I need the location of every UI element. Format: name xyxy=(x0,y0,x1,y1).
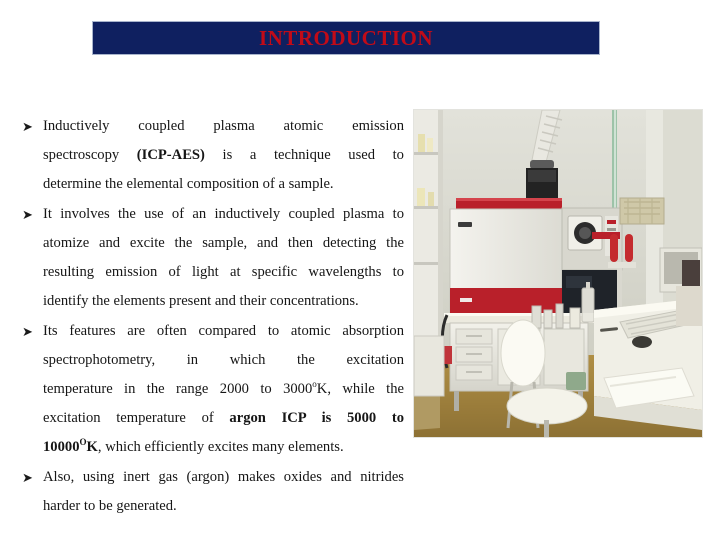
text-line: temperature in the range 2000 to 3000oK,… xyxy=(43,375,404,404)
list-item-text: Inductively coupled plasma atomic emissi… xyxy=(43,112,404,199)
icp-aes-instrument-photo xyxy=(414,110,702,437)
text-line: spectroscopy (ICP-AES) is a technique us… xyxy=(43,141,404,170)
text-line: atomize and excite the sample, and then … xyxy=(43,229,404,258)
page-title: INTRODUCTION xyxy=(259,28,433,49)
bullet-arrow-icon: ➤ xyxy=(22,112,40,141)
list-item-text: It involves the use of an inductively co… xyxy=(43,200,404,316)
text-line: 10000OK, which efficiently excites many … xyxy=(43,433,404,462)
text-line: determine the elemental composition of a… xyxy=(43,170,404,199)
text-line: Its features are often compared to atomi… xyxy=(43,317,404,346)
bullet-arrow-icon: ➤ xyxy=(22,200,40,229)
lab-photo-illustration xyxy=(414,110,702,437)
list-item: ➤ Its features are often compared to ato… xyxy=(22,317,404,462)
slide-title-bar: INTRODUCTION xyxy=(92,21,600,55)
bullet-arrow-icon: ➤ xyxy=(22,463,40,492)
text-line: harder to be generated. xyxy=(43,492,404,521)
text-line: excitation temperature of argon ICP is 5… xyxy=(43,404,404,433)
bullet-arrow-icon: ➤ xyxy=(22,317,40,346)
text-line: spectrophotometry, in which the excitati… xyxy=(43,346,404,375)
list-item: ➤ Also, using inert gas (argon) makes ox… xyxy=(22,463,404,521)
text-line: identify the elements present and their … xyxy=(43,287,404,316)
list-item-text: Also, using inert gas (argon) makes oxid… xyxy=(43,463,404,521)
text-line: Inductively coupled plasma atomic emissi… xyxy=(43,112,404,141)
slide: INTRODUCTION ➤ Inductively coupled plasm… xyxy=(0,0,720,539)
list-item: ➤ Inductively coupled plasma atomic emis… xyxy=(22,112,404,199)
text-line: resulting emission of light at specific … xyxy=(43,258,404,287)
text-line: It involves the use of an inductively co… xyxy=(43,200,404,229)
text-line: Also, using inert gas (argon) makes oxid… xyxy=(43,463,404,492)
list-item: ➤ It involves the use of an inductively … xyxy=(22,200,404,316)
list-item-text: Its features are often compared to atomi… xyxy=(43,317,404,462)
bullet-list: ➤ Inductively coupled plasma atomic emis… xyxy=(22,112,404,521)
